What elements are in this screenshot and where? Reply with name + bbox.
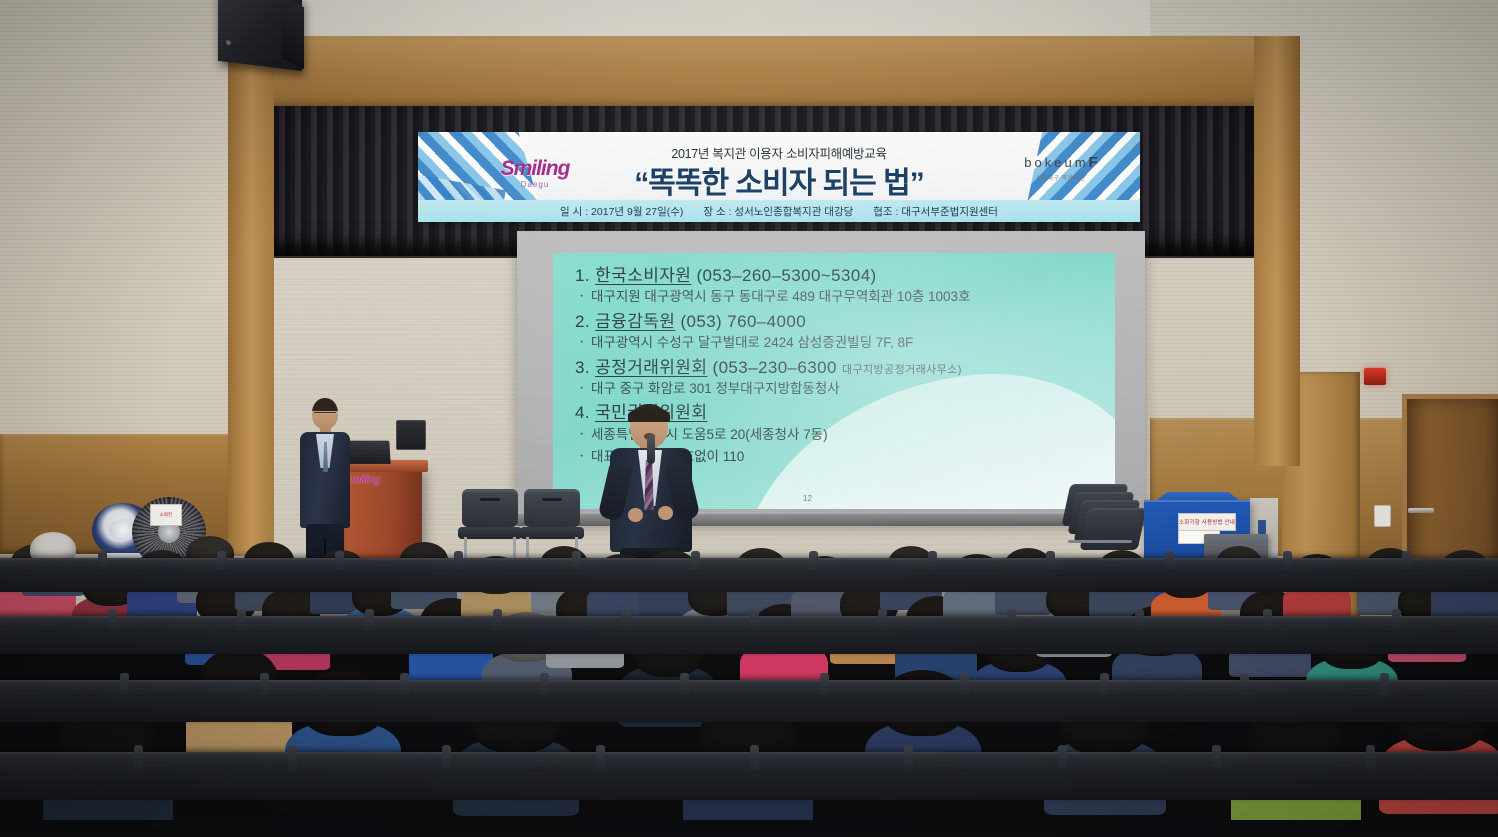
- seat-divider: [1165, 551, 1174, 570]
- seat-divider: [454, 551, 463, 570]
- seat-divider: [680, 673, 689, 696]
- glasses-icon: [314, 412, 336, 417]
- seat-divider: [442, 745, 451, 771]
- seat-divider: [750, 745, 759, 771]
- seat-divider: [1135, 609, 1144, 630]
- audience-seat-row[interactable]: [0, 680, 1498, 722]
- speaker-screw: [226, 40, 231, 46]
- fire-hydrant-sign-text: 소화전: [160, 512, 172, 517]
- seat-divider: [288, 745, 297, 771]
- seat-divider: [1392, 609, 1401, 630]
- seat-divider: [572, 551, 581, 570]
- seat-divider: [540, 673, 549, 696]
- proscenium-header: [228, 36, 1300, 108]
- speaker-right-hand: [658, 506, 673, 520]
- banner-cooperation: 협조 : 대구서부준법지원센터: [873, 204, 998, 219]
- seat-divider: [1007, 609, 1016, 630]
- seat-divider: [134, 745, 143, 771]
- seat-divider: [928, 551, 937, 570]
- seat-divider: [1263, 609, 1272, 630]
- seat-divider: [1380, 673, 1389, 696]
- auditorium-photo: Smiling Daegu bokeumF (재)대구 복음재단 2017년 복…: [0, 0, 1498, 837]
- slide-item-2-detail: 대구광역시 수성구 달구벌대로 2424 삼성증권빌딩 7F, 8F: [591, 334, 1101, 352]
- seat-divider: [1283, 551, 1292, 570]
- banner-info-band: 일 시 : 2017년 9월 27일(수) 장 소 : 성서노인종합복지관 대강…: [418, 200, 1140, 222]
- audience-seat-row[interactable]: [0, 616, 1498, 654]
- audience-floor: [0, 820, 1498, 837]
- seat-divider: [1058, 745, 1067, 771]
- slide-item-3-heading: 3. 공정거래위원회 (053–230–6300 대구지방공정거래사무소): [575, 357, 1101, 378]
- ceiling-speaker-side: [282, 0, 304, 69]
- proscenium-left-post: [228, 36, 274, 596]
- banner-place: 장 소 : 성서노인종합복지관 대강당: [703, 204, 853, 219]
- seat-divider: [622, 609, 631, 630]
- door-handle-icon[interactable]: [1408, 508, 1434, 513]
- speaker-hair: [628, 408, 670, 422]
- seat-divider: [98, 551, 107, 570]
- audience-seat-row[interactable]: [0, 558, 1498, 592]
- slide-page-number: 12: [803, 494, 812, 503]
- seat-divider: [400, 673, 409, 696]
- seat-divider: [596, 745, 605, 771]
- slide-item-1-heading: 1. 한국소비자원 (053–260–5300~5304): [575, 265, 1101, 286]
- seat-divider: [1046, 551, 1055, 570]
- seat-divider: [217, 551, 226, 570]
- seat-divider: [691, 551, 700, 570]
- event-banner: Smiling Daegu bokeumF (재)대구 복음재단 2017년 복…: [418, 132, 1140, 222]
- banner-date: 일 시 : 2017년 9월 27일(수): [560, 204, 683, 219]
- seat-divider: [120, 673, 129, 696]
- seat-divider: [365, 609, 374, 630]
- seat-divider: [960, 673, 969, 696]
- seat-divider: [1212, 745, 1221, 771]
- audience-seat-row[interactable]: [0, 752, 1498, 800]
- audience-area: [0, 520, 1498, 837]
- seat-divider: [809, 551, 818, 570]
- slide-item-1-detail: 대구지원 대구광역시 동구 동대구로 489 대구무역회관 10층 1003호: [591, 288, 1101, 306]
- seat-divider: [750, 609, 759, 630]
- seat-divider: [493, 609, 502, 630]
- chair-handle-slot: [480, 498, 500, 501]
- seat-divider: [237, 609, 246, 630]
- seat-divider: [904, 745, 913, 771]
- seat-divider: [108, 609, 117, 630]
- seat-divider: [260, 673, 269, 696]
- handheld-microphone-icon: [647, 434, 655, 464]
- seat-divider: [878, 609, 887, 630]
- seat-divider: [1100, 673, 1109, 696]
- seat-divider: [1366, 745, 1375, 771]
- seat-divider: [1240, 673, 1249, 696]
- slide-item-2-heading: 2. 금융감독원 (053) 760–4000: [575, 311, 1101, 332]
- proscenium-right-post: [1254, 36, 1300, 466]
- chair-handle-slot: [542, 498, 562, 501]
- slide-item-3-detail: 대구 중구 화암로 301 정부대구지방합동청사: [591, 380, 1101, 398]
- seat-divider: [1402, 551, 1411, 570]
- seat-divider: [820, 673, 829, 696]
- exit-lamp-icon: [1364, 368, 1386, 385]
- wall-control-panel[interactable]: [396, 420, 426, 450]
- seat-divider: [335, 551, 344, 570]
